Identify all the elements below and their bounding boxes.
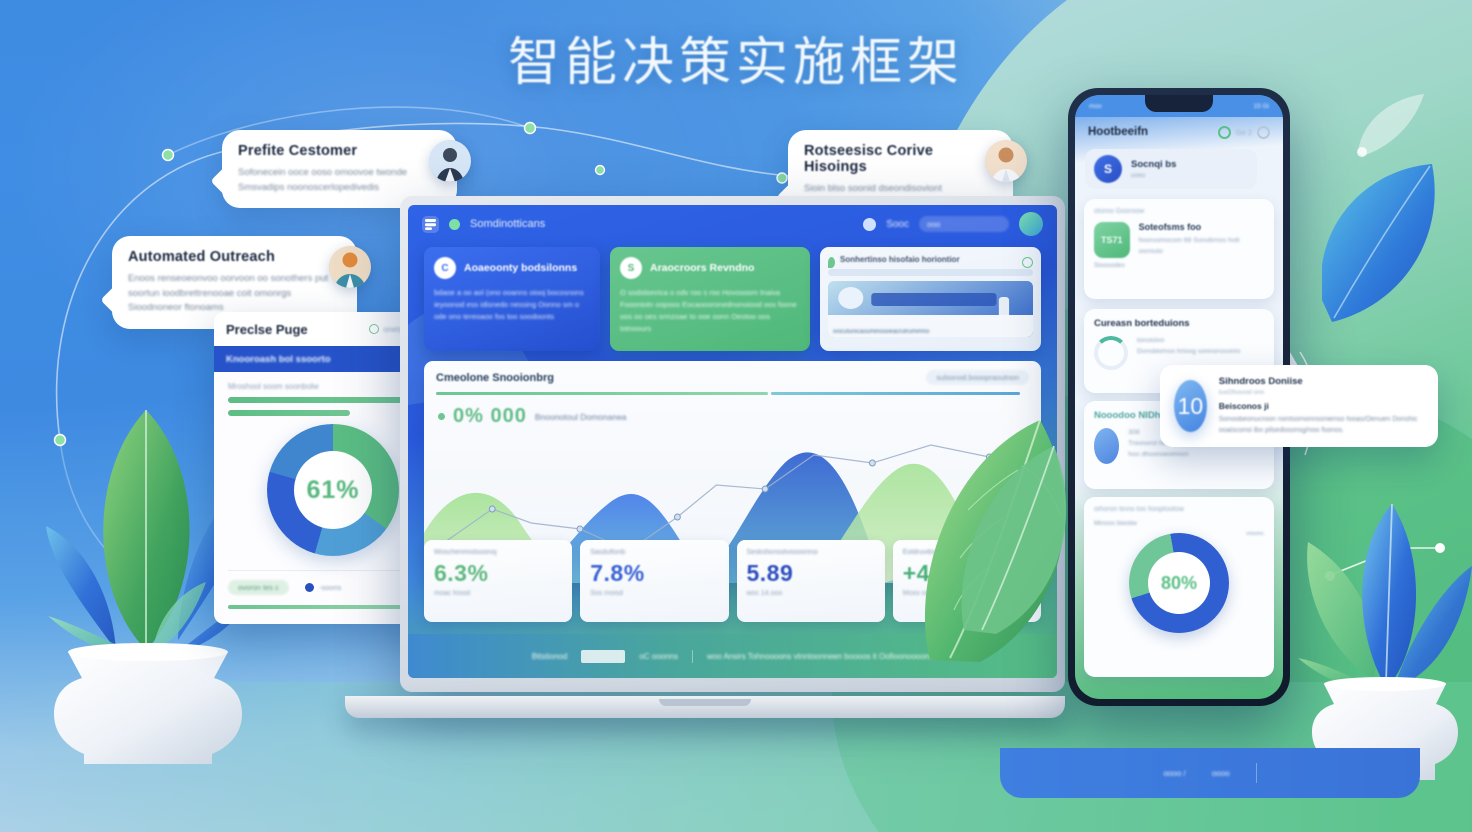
phone-section-one[interactable]: otoroo Gooroow TS71 Soteofsms foo hooroo… <box>1084 199 1274 299</box>
mini-panel-title: Sonhertinso hisofaio horiontior <box>840 255 1017 264</box>
topbar-menu-right[interactable]: Sooc <box>886 219 909 230</box>
donut-value: 80% <box>1129 533 1229 633</box>
left-panel-title: Preclse Puge <box>226 322 308 337</box>
donut-legend: vnoonc <box>1246 531 1264 537</box>
refresh-icon[interactable] <box>1022 257 1033 268</box>
phone-header-right: Ge 2 <box>1218 126 1270 139</box>
user-avatar[interactable] <box>1019 212 1043 236</box>
callout-title: Rotseesisc Corive Hisoings <box>804 143 997 175</box>
notification-dot-icon[interactable] <box>863 218 876 231</box>
mini-panel-legend: ivocutunicaouminoooeacrutrumimno <box>833 329 929 335</box>
kpi-label: Sesksfionsstvoooorinsi <box>747 549 875 556</box>
card-header: C Aoaeoonty bodsilonns <box>434 257 590 279</box>
kpi-value: 7.8% <box>590 560 718 587</box>
bottom-bar-right: oooo <box>1212 769 1230 778</box>
metric-value: 0% 000 <box>453 405 527 428</box>
insight-title: Sihndroos Doniise <box>1219 376 1424 387</box>
leaf-icon <box>828 257 835 268</box>
laptop-cards-row: C Aoaeoonty bodsilonns bdaoe a oo aol (o… <box>424 247 1041 351</box>
insight-text: Sihndroos Doniise tusOfsovod onn Beiscon… <box>1219 376 1424 436</box>
bottom-status-bar: oooo / oooo <box>1000 748 1420 798</box>
card-title: Aoaeoonty bodsilonns <box>464 262 577 274</box>
insight-line2: Beisconos ji <box>1219 401 1424 411</box>
phone-list-item[interactable]: TS71 Soteofsms foo hooroomocom 68 Sonobr… <box>1094 222 1264 258</box>
laptop-notch <box>659 699 751 706</box>
poster-stage: 智能决策实施框架 Prefite Cestomer Sofonecein ooc… <box>0 0 1472 832</box>
legend-dot: -soons <box>305 583 342 592</box>
legend-chip: ovoron tes c <box>228 580 289 595</box>
app-logo-icon <box>422 216 439 233</box>
insight-body: Sonoobeonucroon nontsomonnsonienso fooas… <box>1219 414 1424 436</box>
statusbar-left: moo <box>1089 103 1102 110</box>
metric-dot-icon <box>438 413 445 420</box>
footer-link[interactable]: oC ooonns <box>639 652 678 661</box>
person-doctor-icon <box>985 140 1027 182</box>
floating-insight-card[interactable]: 10 Sihndroos Doniise tusOfsovod onn Beis… <box>1160 365 1438 447</box>
kpi-sub: moac fosod <box>434 590 562 597</box>
decorative-leaf-small <box>1352 90 1432 160</box>
card-header: S Araocroors Revndno <box>620 257 800 279</box>
item-text: Soteofsms foo hooroomocom 68 Sonobrnos h… <box>1139 222 1264 258</box>
search-input[interactable]: ooo <box>919 216 1009 232</box>
left-panel-bar-label: Knooroash bol ssoorto <box>226 354 331 365</box>
plant-right <box>1296 480 1472 780</box>
gauge-icon <box>1094 336 1128 370</box>
statusbar-right: 15 Gi <box>1253 103 1269 110</box>
footer-divider <box>692 650 693 663</box>
chart-rule <box>436 392 1029 395</box>
callout-body: Enoos renseoeonvoo oorvoon oo sonothers … <box>128 272 338 316</box>
phone-header: Hootbeeifn Ge 2 <box>1075 117 1283 147</box>
section-label: otoroo Gooroow <box>1094 208 1264 215</box>
phone-top-row[interactable]: S Socnqi bs useo <box>1085 149 1257 189</box>
mini-chart-panel: ivocutunicaouminoooeacrutrumimno <box>828 281 1033 337</box>
bottom-bar-left: oooo / <box>1163 769 1185 778</box>
mini-dashboard-card[interactable]: Sonhertinso hisofaio horiontior iv <box>820 247 1041 351</box>
kpi-card[interactable]: Sasduflonb 7.8% Sos moisd <box>580 540 728 622</box>
footer-brand: Bttstionod <box>532 652 568 661</box>
person-suit-icon <box>429 140 471 182</box>
phone-row-badge: S <box>1094 155 1122 183</box>
bottom-bar-divider <box>1256 763 1257 783</box>
chart-metric: 0% 000 Bnoonotoul Domonanea <box>438 405 627 428</box>
callout-title: Automated Outreach <box>128 249 341 265</box>
mini-progress-bar <box>828 269 1033 276</box>
item-sub: Sioooodes <box>1094 262 1264 269</box>
laptop-topbar[interactable]: Somdinotticans Sooc ooo <box>408 205 1057 243</box>
phone-row-sub: useo <box>1131 172 1176 179</box>
phone-notch <box>1145 95 1213 112</box>
chart-title: Cmeolone Snooionbrg <box>436 372 554 384</box>
phone-header-meta: Ge 2 <box>1236 128 1252 137</box>
kpi-value: 6.3% <box>434 560 562 587</box>
legend-dot-icon <box>305 583 314 592</box>
chart-panel-header: Cmeolone Snooionbrg sulsonod.booopraoutn… <box>424 361 1041 385</box>
insight-subtitle: tusOfsovod onn <box>1219 389 1424 396</box>
leaf-badge-icon <box>449 219 460 230</box>
callout-body: Sofonecein ooce ooso omoovoe twonde Smsv… <box>238 166 441 195</box>
card-body: bdaoe a oo aol (ono ooanns oiooj bocosno… <box>434 287 590 323</box>
avatar-circle-icon[interactable] <box>1257 126 1270 139</box>
kpi-card[interactable]: Sesksfionsstvoooorinsi 5.89 woc 14.ooo <box>737 540 885 622</box>
section-tile-icon: TS71 <box>1094 222 1130 258</box>
page-title: 智能决策实施框架 <box>0 34 1472 94</box>
section-label: Cureasn borteduions <box>1094 318 1264 329</box>
feature-card-blue[interactable]: C Aoaeoonty bodsilonns bdaoe a oo aol (o… <box>424 247 600 351</box>
kpi-sub: woc 14.ooo <box>747 590 875 597</box>
kpi-card[interactable]: Woschenmistsoonoj 6.3% moac fosod <box>424 540 572 622</box>
phone-title: Hootbeeifn <box>1088 126 1148 138</box>
progress-bar <box>228 410 350 416</box>
ring-progress-icon[interactable] <box>1218 126 1231 139</box>
app-name: Somdinotticans <box>470 218 545 230</box>
legend-dot-label: -soons <box>319 583 342 592</box>
phone-donut-chart[interactable]: 80% <box>1129 533 1229 633</box>
card-title: Araocroors Revndno <box>650 262 754 274</box>
card-number: C <box>434 257 456 279</box>
item-body: Donsbiomoo hrioog sonnorsscerio <box>1137 347 1240 358</box>
item-body: hooroomocom 68 Sonobrnos hott osnnuto <box>1139 236 1264 258</box>
foreground-leaf-center-2 <box>944 430 1104 640</box>
card-number: S <box>620 257 642 279</box>
kpi-sub: Sos moisd <box>590 590 718 597</box>
kpi-label: Sasduflonb <box>590 549 718 556</box>
callout-title: Prefite Cestomer <box>238 143 441 159</box>
chart-tab[interactable]: sulsonod.booopraoutnon <box>926 370 1029 385</box>
item-metric: tonoioivo <box>1137 336 1240 347</box>
kpi-value: 5.89 <box>747 560 875 587</box>
kpi-label: Woschenmistsoonoj <box>434 549 562 556</box>
card-body: O sodstionrica o odv roo s roo Hovosoom … <box>620 287 800 335</box>
insight-count-badge: 10 <box>1174 380 1207 432</box>
barcode-logo-icon <box>581 650 625 663</box>
item-title: Soteofsms foo <box>1139 222 1264 232</box>
phone-row-title: Socnqi bs <box>1131 159 1176 170</box>
item-text: tonoioivo Donsbiomoo hrioog sonnorssceri… <box>1137 336 1240 358</box>
phone-row-text: Socnqi bs useo <box>1131 159 1176 179</box>
metric-label: Bnoonotoul Domonanea <box>535 412 627 422</box>
feature-card-green[interactable]: S Araocroors Revndno O sodstionrica o od… <box>610 247 810 351</box>
